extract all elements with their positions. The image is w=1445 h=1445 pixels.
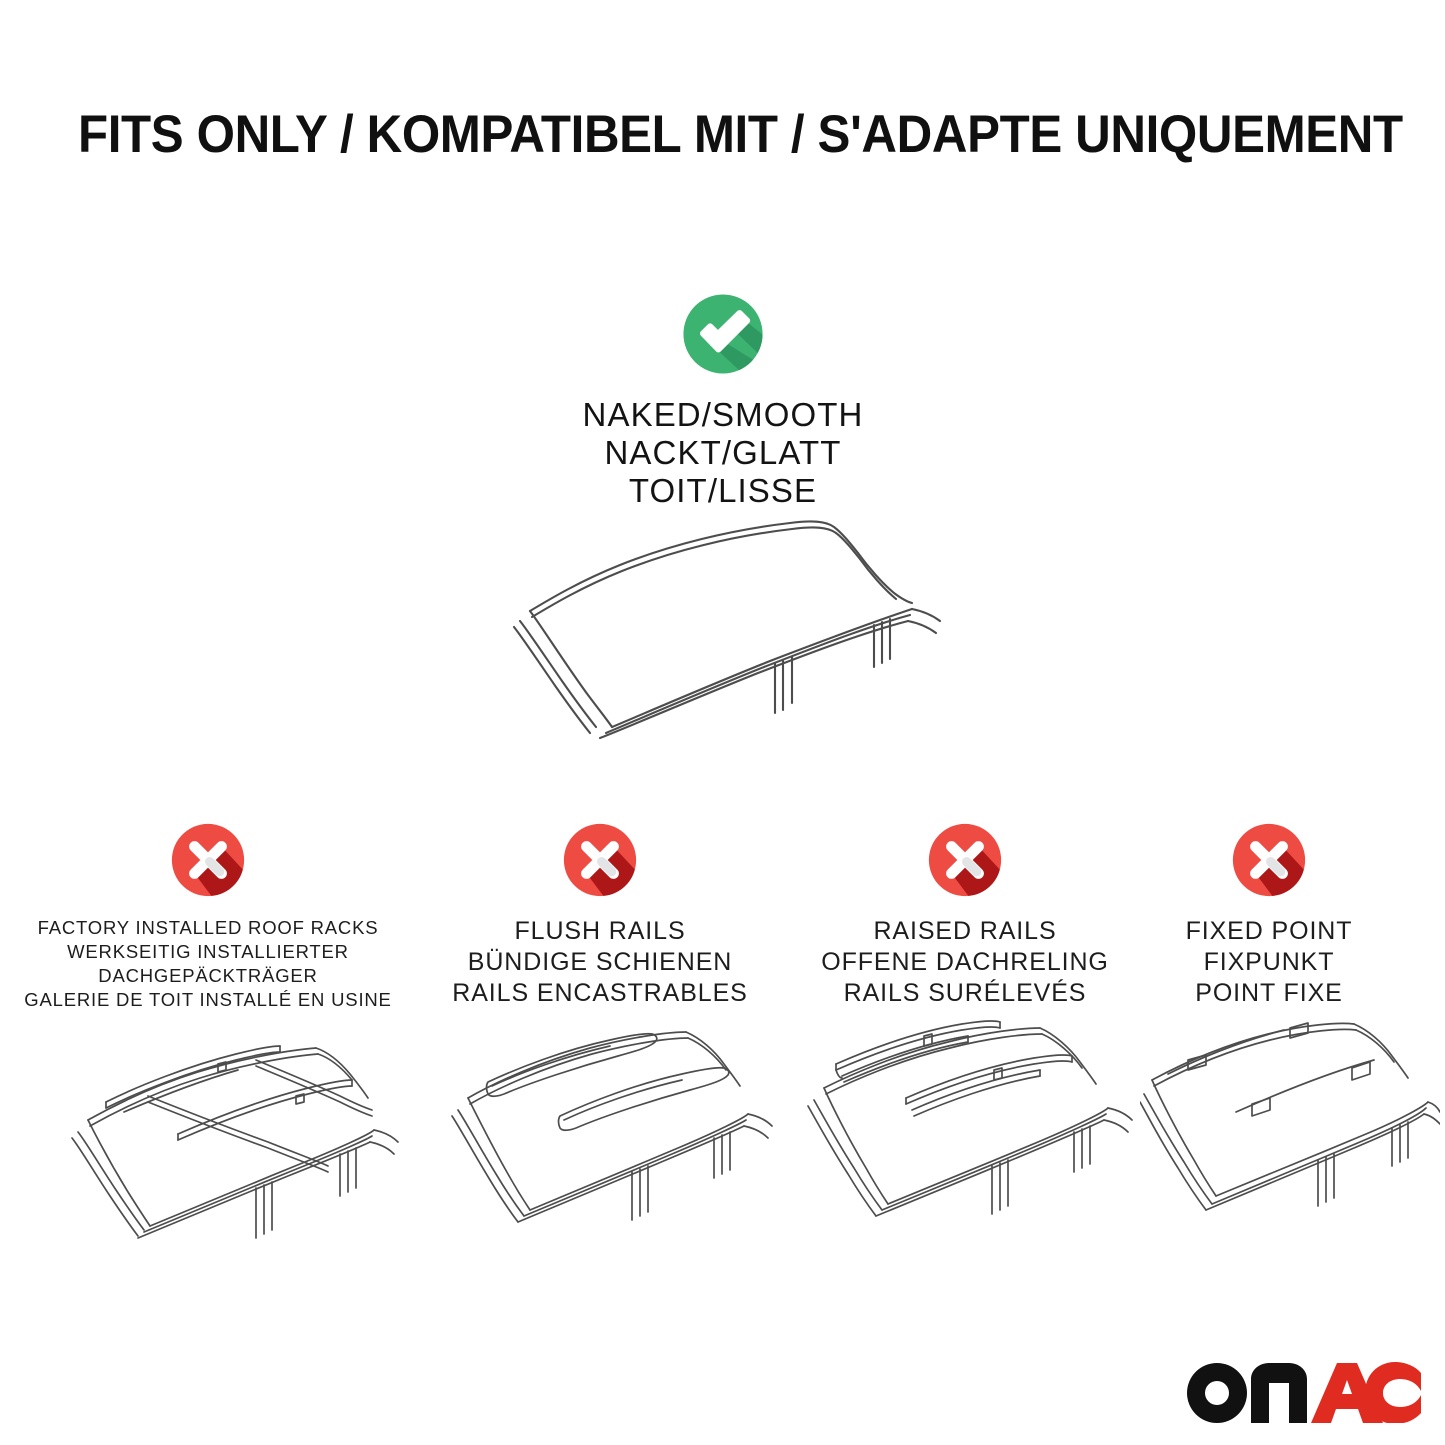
check-circle-icon bbox=[677, 288, 769, 380]
incompatible-item-fixed-point: FIXED POINT FIXPUNKT POINT FIXE bbox=[1140, 818, 1398, 1009]
car-roof-naked-smooth-illustration bbox=[470, 495, 990, 760]
car-roof-factory-installed-roof-racks-illustration bbox=[28, 1020, 408, 1250]
incompatible-caption: FIXED POINT FIXPUNKT POINT FIXE bbox=[1140, 916, 1398, 1009]
car-roof-flush-rails-illustration bbox=[418, 1020, 798, 1250]
caption-line-2: FIXPUNKT bbox=[1140, 947, 1398, 978]
incompatible-caption: RAISED RAILS OFFENE DACHRELING RAILS SUR… bbox=[768, 916, 1162, 1009]
caption-line-3: RAILS ENCASTRABLES bbox=[404, 978, 796, 1009]
cross-circle-icon bbox=[1227, 818, 1311, 902]
caption-line-3: POINT FIXE bbox=[1140, 978, 1398, 1009]
logo-letter-o bbox=[1187, 1363, 1247, 1423]
caption-line-2: BÜNDIGE SCHIENEN bbox=[404, 947, 796, 978]
compatible-caption: NAKED/SMOOTH NACKT/GLATT TOIT/LISSE bbox=[473, 396, 973, 510]
compatible-line-de: NACKT/GLATT bbox=[473, 434, 973, 472]
incompatible-item-flush-rails: FLUSH RAILS BÜNDIGE SCHIENEN RAILS ENCAS… bbox=[404, 818, 796, 1009]
page-title: FITS ONLY / KOMPATIBEL MIT / S'ADAPTE UN… bbox=[78, 104, 1287, 166]
page-root: FITS ONLY / KOMPATIBEL MIT / S'ADAPTE UN… bbox=[0, 0, 1445, 1445]
car-roof-raised-rails-illustration bbox=[782, 1020, 1162, 1250]
roof-illustration-row bbox=[0, 1020, 1445, 1250]
logo-letter-c bbox=[1365, 1362, 1421, 1423]
cross-circle-icon bbox=[558, 818, 642, 902]
caption-line-1: FIXED POINT bbox=[1140, 916, 1398, 947]
car-roof-fixed-point-illustration bbox=[1140, 1020, 1440, 1250]
incompatible-item-raised-rails: RAISED RAILS OFFENE DACHRELING RAILS SUR… bbox=[768, 818, 1162, 1009]
caption-line-1: FLUSH RAILS bbox=[404, 916, 796, 947]
incompatible-caption: FACTORY INSTALLED ROOF RACKS WERKSEITIG … bbox=[10, 916, 406, 1012]
caption-line-4: GALERIE DE TOIT INSTALLÉ EN USINE bbox=[10, 988, 406, 1012]
cross-circle-icon bbox=[923, 818, 1007, 902]
caption-line-2: WERKSEITIG INSTALLIERTER bbox=[10, 940, 406, 964]
caption-line-3: DACHGEPÄCKTRÄGER bbox=[10, 964, 406, 988]
compatible-line-en: NAKED/SMOOTH bbox=[473, 396, 973, 434]
incompatible-row: FACTORY INSTALLED ROOF RACKS WERKSEITIG … bbox=[0, 818, 1445, 1048]
omac-logo: OMAC bbox=[1181, 1361, 1421, 1423]
caption-line-2: OFFENE DACHRELING bbox=[768, 947, 1162, 978]
incompatible-caption: FLUSH RAILS BÜNDIGE SCHIENEN RAILS ENCAS… bbox=[404, 916, 796, 1009]
compatible-block: NAKED/SMOOTH NACKT/GLATT TOIT/LISSE bbox=[473, 288, 973, 510]
caption-line-3: RAILS SURÉLEVÉS bbox=[768, 978, 1162, 1009]
cross-circle-icon bbox=[166, 818, 250, 902]
incompatible-item-factory-roof-racks: FACTORY INSTALLED ROOF RACKS WERKSEITIG … bbox=[10, 818, 406, 1012]
caption-line-1: RAISED RAILS bbox=[768, 916, 1162, 947]
logo-letter-m bbox=[1251, 1363, 1307, 1423]
caption-line-1: FACTORY INSTALLED ROOF RACKS bbox=[10, 916, 406, 940]
